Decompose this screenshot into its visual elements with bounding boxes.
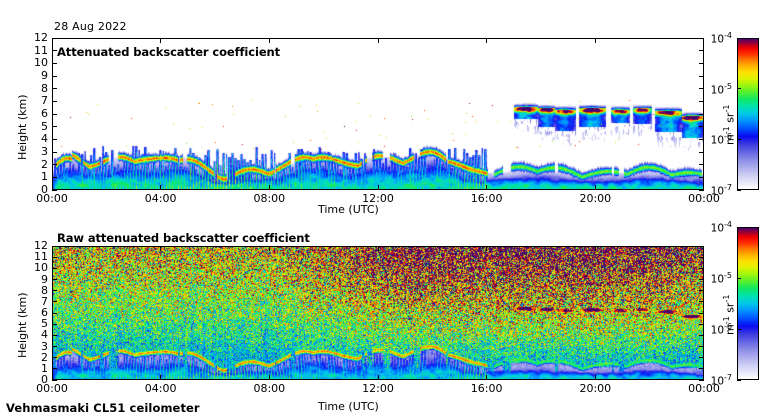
y-tick-mark (52, 139, 57, 140)
colorbar-tick-label: 10-7 (696, 373, 732, 388)
x-tick-mark (378, 185, 379, 190)
colorbar-tick-label: 10-4 (696, 31, 732, 46)
y-tick-mark (699, 152, 704, 153)
x-tick-label: 12:00 (348, 192, 408, 205)
colorbar-tick-mark (737, 278, 741, 279)
colorbar-tick-label: 10-5 (696, 82, 732, 97)
panel-title-attenuated: Attenuated backscatter coefficient (57, 45, 280, 59)
y-tick-label: 7 (18, 295, 48, 308)
y-tick-mark (52, 335, 57, 336)
colorbar-tick-mark (737, 380, 741, 381)
colorbar-tick-label: 10-7 (696, 183, 732, 198)
y-tick-mark (52, 63, 57, 64)
y-tick-mark (52, 257, 57, 258)
y-tick-label: 8 (18, 284, 48, 297)
y-tick-mark (52, 357, 57, 358)
y-tick-mark (699, 164, 704, 165)
y-tick-label: 4 (18, 132, 48, 145)
y-tick-mark (52, 246, 57, 247)
x-tick-mark (486, 246, 487, 251)
y-tick-label: 8 (18, 82, 48, 95)
plot-area-raw[interactable] (52, 246, 704, 380)
y-tick-mark (52, 152, 57, 153)
x-tick-mark (378, 38, 379, 43)
colorbar-tick-mark (737, 38, 741, 39)
x-tick-label: 12:00 (348, 382, 408, 395)
y-tick-label: 10 (18, 261, 48, 274)
x-tick-mark (595, 375, 596, 380)
y-tick-label: 3 (18, 145, 48, 158)
y-tick-mark (52, 279, 57, 280)
y-tick-label: 4 (18, 328, 48, 341)
y-tick-mark (699, 368, 704, 369)
ceilometer-figure: 28 Aug 2022 Attenuated backscatter coeff… (0, 0, 780, 420)
y-tick-mark (699, 50, 704, 51)
y-tick-label: 9 (18, 69, 48, 82)
colorbar-tick-mark (737, 139, 741, 140)
y-tick-mark (52, 368, 57, 369)
y-tick-mark (699, 63, 704, 64)
x-tick-mark (160, 185, 161, 190)
x-tick-mark (486, 38, 487, 43)
colorbar-bottom (737, 227, 759, 380)
x-tick-mark (595, 38, 596, 43)
y-tick-mark (52, 301, 57, 302)
y-tick-mark (52, 88, 57, 89)
y-tick-label: 5 (18, 120, 48, 133)
x-tick-mark (486, 375, 487, 380)
colorbar-tick-label: 10-5 (696, 271, 732, 286)
x-tick-label: 16:00 (457, 192, 517, 205)
y-tick-mark (699, 177, 704, 178)
x-tick-mark (378, 246, 379, 251)
panel-title-raw: Raw attenuated backscatter coefficient (57, 231, 310, 245)
x-tick-label: 20:00 (565, 382, 625, 395)
y-tick-mark (52, 126, 57, 127)
x-tick-mark (595, 246, 596, 251)
heatmap-canvas-attenuated (53, 39, 703, 189)
x-tick-mark (269, 375, 270, 380)
colorbar-tick-mark (737, 88, 741, 89)
x-tick-label: 00:00 (22, 382, 82, 395)
x-tick-mark (160, 246, 161, 251)
y-tick-mark (699, 246, 704, 247)
x-tick-mark (269, 38, 270, 43)
y-tick-label: 1 (18, 170, 48, 183)
x-tick-mark (269, 185, 270, 190)
y-tick-mark (52, 313, 57, 314)
y-tick-label: 3 (18, 340, 48, 353)
y-tick-mark (699, 114, 704, 115)
x-tick-mark (595, 185, 596, 190)
y-tick-mark (52, 380, 57, 381)
y-tick-label: 12 (18, 239, 48, 252)
y-tick-mark (699, 290, 704, 291)
y-tick-mark (52, 324, 57, 325)
y-tick-mark (52, 164, 57, 165)
y-tick-mark (52, 177, 57, 178)
y-tick-mark (699, 301, 704, 302)
y-tick-mark (52, 268, 57, 269)
y-tick-label: 6 (18, 107, 48, 120)
colorbar-tick-mark (737, 190, 741, 191)
colorbar-tick-mark (737, 227, 741, 228)
y-tick-mark (52, 114, 57, 115)
x-tick-mark (160, 38, 161, 43)
y-tick-mark (699, 257, 704, 258)
footer-caption: Vehmasmaki CL51 ceilometer (6, 401, 200, 415)
y-tick-label: 9 (18, 273, 48, 286)
y-tick-mark (52, 290, 57, 291)
y-tick-mark (52, 38, 57, 39)
x-tick-label: 20:00 (565, 192, 625, 205)
y-tick-label: 5 (18, 317, 48, 330)
heatmap-canvas-raw (53, 247, 703, 379)
y-tick-mark (52, 190, 57, 191)
colorbar-tick-label: 10-6 (696, 132, 732, 147)
colorbar-tick-label: 10-6 (696, 322, 732, 337)
y-tick-mark (699, 101, 704, 102)
y-tick-mark (52, 76, 57, 77)
y-tick-label: 10 (18, 56, 48, 69)
x-tick-mark (486, 185, 487, 190)
y-tick-label: 7 (18, 94, 48, 107)
x-tick-mark (269, 246, 270, 251)
x-tick-label: 00:00 (22, 192, 82, 205)
x-tick-label: 08:00 (239, 382, 299, 395)
y-tick-label: 11 (18, 250, 48, 263)
y-tick-mark (699, 268, 704, 269)
x-tick-label: 08:00 (239, 192, 299, 205)
y-tick-label: 2 (18, 158, 48, 171)
y-tick-mark (699, 313, 704, 314)
x-tick-label: 16:00 (457, 382, 517, 395)
colorbar-tick-mark (737, 329, 741, 330)
plot-area-attenuated[interactable] (52, 38, 704, 190)
y-tick-mark (52, 101, 57, 102)
x-tick-label: 04:00 (131, 382, 191, 395)
y-tick-mark (52, 346, 57, 347)
y-tick-label: 12 (18, 31, 48, 44)
colorbar-tick-label: 10-4 (696, 220, 732, 235)
y-tick-label: 1 (18, 362, 48, 375)
x-tick-mark (160, 375, 161, 380)
x-tick-label: 04:00 (131, 192, 191, 205)
y-tick-label: 2 (18, 351, 48, 364)
x-axis-label-bottom: Time (UTC) (318, 400, 379, 413)
x-tick-mark (378, 375, 379, 380)
y-tick-label: 6 (18, 306, 48, 319)
colorbar-top (737, 38, 759, 190)
y-tick-label: 11 (18, 44, 48, 57)
y-tick-mark (699, 346, 704, 347)
y-tick-mark (699, 126, 704, 127)
y-tick-mark (699, 76, 704, 77)
y-tick-mark (699, 357, 704, 358)
date-label: 28 Aug 2022 (54, 20, 127, 33)
